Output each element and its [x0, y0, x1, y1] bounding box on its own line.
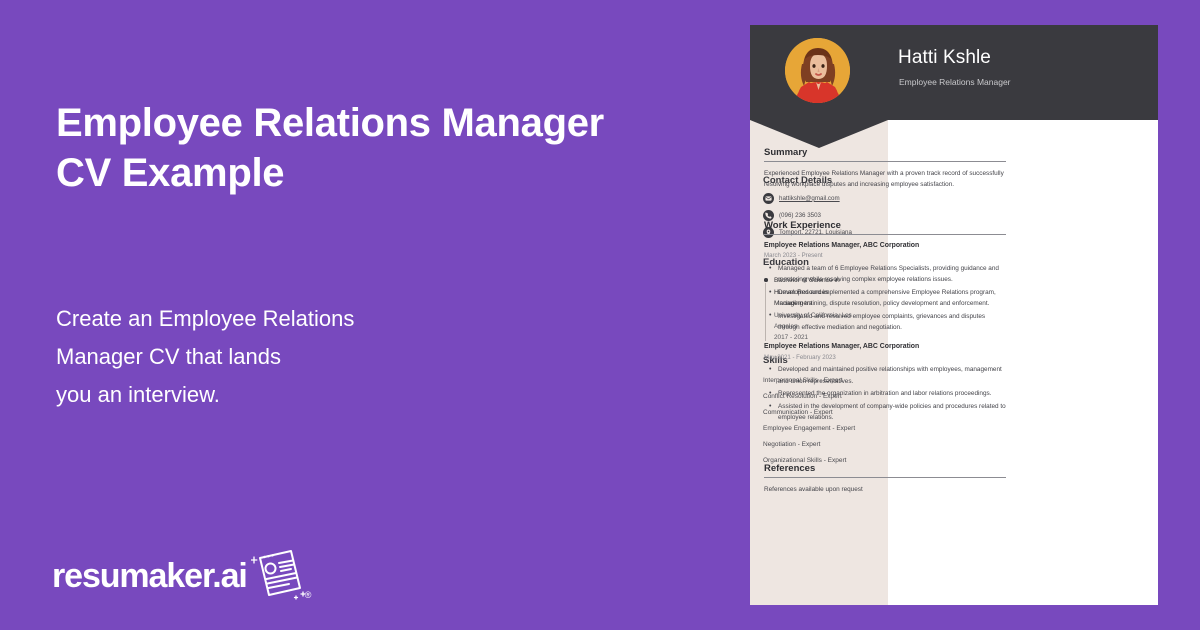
summary-heading: Summary	[764, 147, 1006, 162]
job-dates: March 2023 - Present	[764, 251, 1006, 261]
work-experience-section: Work Experience Employee Relations Manag…	[764, 220, 1006, 432]
job-bullet: Managed a team of 6 Employee Relations S…	[764, 263, 1006, 285]
job-title: Employee Relations Manager, ABC Corporat…	[764, 342, 1006, 352]
job-bullet: Developed and maintained positive relati…	[764, 364, 1006, 386]
references-heading: References	[764, 463, 1006, 478]
job-entry: Employee Relations Manager, ABC Corporat…	[764, 241, 1006, 333]
logo-wordmark: resumaker.ai	[52, 559, 247, 593]
job-bullet: Investigated and resolved employee compl…	[764, 311, 1006, 333]
cv-preview-card[interactable]: Hatti Kshle Employee Relations Manager C…	[750, 25, 1158, 605]
envelope-icon	[763, 193, 774, 204]
job-dates: May 2021 - February 2023	[764, 353, 1006, 363]
contact-phone-text: (096) 236 3503	[779, 212, 821, 219]
job-bullet: Represented the organization in arbitrat…	[764, 388, 1006, 399]
job-bullet: Developed and implemented a comprehensiv…	[764, 287, 1006, 309]
job-title: Employee Relations Manager, ABC Corporat…	[764, 241, 1006, 251]
resumaker-logo[interactable]: resumaker.ai	[52, 548, 311, 604]
work-experience-heading: Work Experience	[764, 220, 1006, 235]
references-text: References available upon request	[764, 484, 1006, 495]
job-entry: Employee Relations Manager, ABC Corporat…	[764, 342, 1006, 423]
avatar	[785, 38, 850, 103]
page-title-line-2: CV Example	[56, 148, 676, 198]
promo-subtitle-line-1: Create an Employee Relations	[56, 300, 486, 338]
cv-candidate-role: Employee Relations Manager	[899, 77, 1011, 87]
job-bullet-list: Managed a team of 6 Employee Relations S…	[764, 263, 1006, 333]
summary-section: Summary Experienced Employee Relations M…	[764, 147, 1006, 191]
job-bullet: Assisted in the development of company-w…	[764, 401, 1006, 423]
contact-row-email[interactable]: hattikshle@gmail.com	[763, 193, 881, 204]
contact-email-text[interactable]: hattikshle@gmail.com	[779, 195, 840, 202]
cv-candidate-name: Hatti Kshle	[898, 47, 991, 69]
resume-document-icon	[251, 548, 307, 604]
promo-subtitle-line-3: you an interview.	[56, 376, 486, 414]
skill-item: Negotiation - Expert	[763, 441, 881, 448]
references-section: References References available upon req…	[764, 463, 1006, 495]
promo-subtitle: Create an Employee Relations Manager CV …	[56, 300, 486, 414]
summary-text: Experienced Employee Relations Manager w…	[764, 168, 1006, 191]
promo-subtitle-line-2: Manager CV that lands	[56, 338, 486, 376]
page-title-line-1: Employee Relations Manager	[56, 98, 676, 148]
job-bullet-list: Developed and maintained positive relati…	[764, 364, 1006, 423]
promo-panel: Employee Relations Manager CV Example Cr…	[0, 0, 750, 630]
page-title: Employee Relations Manager CV Example	[56, 98, 676, 198]
